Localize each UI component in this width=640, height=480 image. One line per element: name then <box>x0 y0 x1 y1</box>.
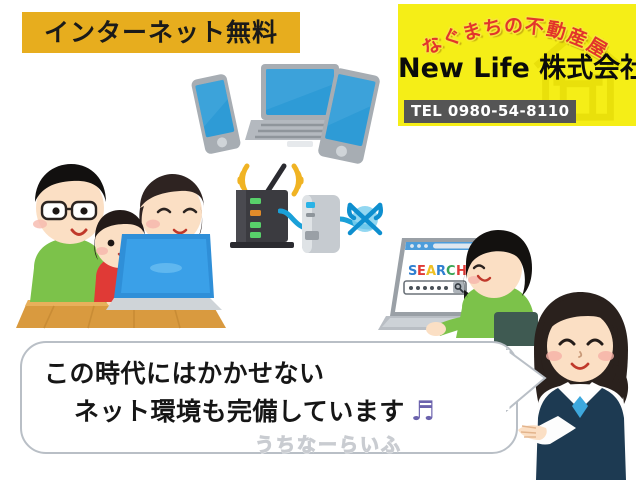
site-watermark: うちなーらいふ <box>255 430 402 457</box>
promo-badge: インターネット無料 <box>22 12 300 53</box>
logo-arc-text: な ぐ ま ち の 不 動 産 屋 <box>398 6 636 52</box>
speech-line-1: この時代にはかかせない <box>44 359 325 388</box>
svg-text:S: S <box>408 264 417 279</box>
modem-icon <box>296 193 346 255</box>
svg-text:E: E <box>417 264 426 279</box>
company-name: New Life 株式会社 <box>398 54 636 84</box>
telephone-badge: TEL 0980-54-8110 <box>404 100 576 123</box>
speech-bubble-tail <box>505 348 551 414</box>
speech-bubble-text: この時代にはかかせない ネット環境も完備しています♬ <box>44 356 504 431</box>
smartphone-icon <box>190 72 242 156</box>
music-note-icon: ♬ <box>405 396 436 427</box>
svg-text:H: H <box>456 264 467 279</box>
svg-text:A: A <box>426 264 436 279</box>
family-at-laptop-illustration <box>14 150 230 335</box>
person-searching-laptop-illustration: S E A R C H <box>378 228 538 346</box>
promo-badge-label: インターネット無料 <box>44 20 278 45</box>
speech-line-2: ネット環境も完備しています <box>74 397 405 426</box>
company-logo-panel: な ぐ ま ち の 不 動 産 屋 なぐまちの不動産屋 New Life 株式会… <box>398 4 636 126</box>
svg-text:C: C <box>446 264 456 279</box>
speech-line-2-wrap: ネット環境も完備しています♬ <box>44 392 504 431</box>
svg-text:R: R <box>436 264 446 279</box>
tablet-icon <box>318 68 380 164</box>
advertisement-canvas: インターネット無料 な ぐ ま ち の 不 動 産 屋 <box>0 0 640 480</box>
